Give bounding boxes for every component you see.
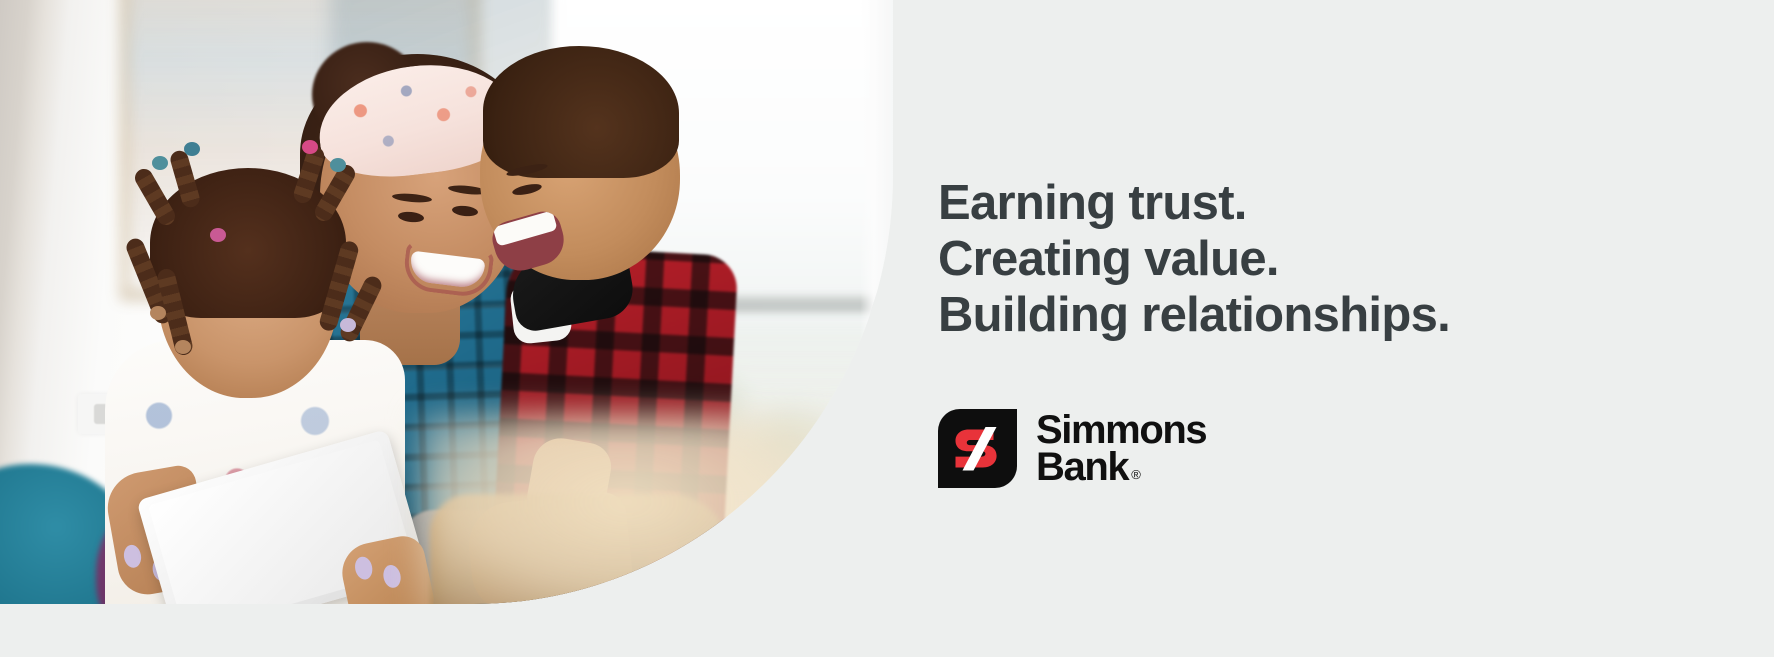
photo-fingernail [122,544,143,570]
simmons-bank-s-mark-icon [938,409,1017,488]
logo-word-simmons: Simmons [1036,412,1206,449]
simmons-bank-wordmark: Simmons Bank ® [1036,412,1206,486]
registered-trademark-icon: ® [1131,469,1141,481]
photo-girl-hair-bead [152,156,168,170]
headline-line-2: Creating value. [938,231,1698,287]
logo-word-bank-text: Bank [1036,449,1128,486]
hero-content: Earning trust. Creating value. Building … [938,175,1698,343]
photo-fingernail [381,563,402,589]
photo-fingernail [353,555,374,581]
photo-stage [0,0,893,604]
photo-girl-hair-bead [302,140,318,154]
photo-girl-hair-bead [184,142,200,156]
simmons-bank-hero-banner: Earning trust. Creating value. Building … [0,0,1774,657]
photo-girl-hair-bead [210,228,226,242]
photo-girl-hair-bead [340,318,356,332]
headline-line-1: Earning trust. [938,175,1698,231]
photo-girl-hair-bead [150,306,166,320]
simmons-bank-logo[interactable]: Simmons Bank ® [938,409,1206,488]
photo-girl-hair-bead [175,340,191,354]
logo-word-bank: Bank ® [1036,449,1206,486]
hero-photo [0,0,893,604]
photo-foreground-bokeh [420,414,880,604]
photo-boy-hair [483,46,679,178]
page-title: Earning trust. Creating value. Building … [938,175,1698,343]
headline-line-3: Building relationships. [938,287,1698,343]
photo-right-edge-fade [860,0,893,604]
photo-girl-hair-bead [330,158,346,172]
